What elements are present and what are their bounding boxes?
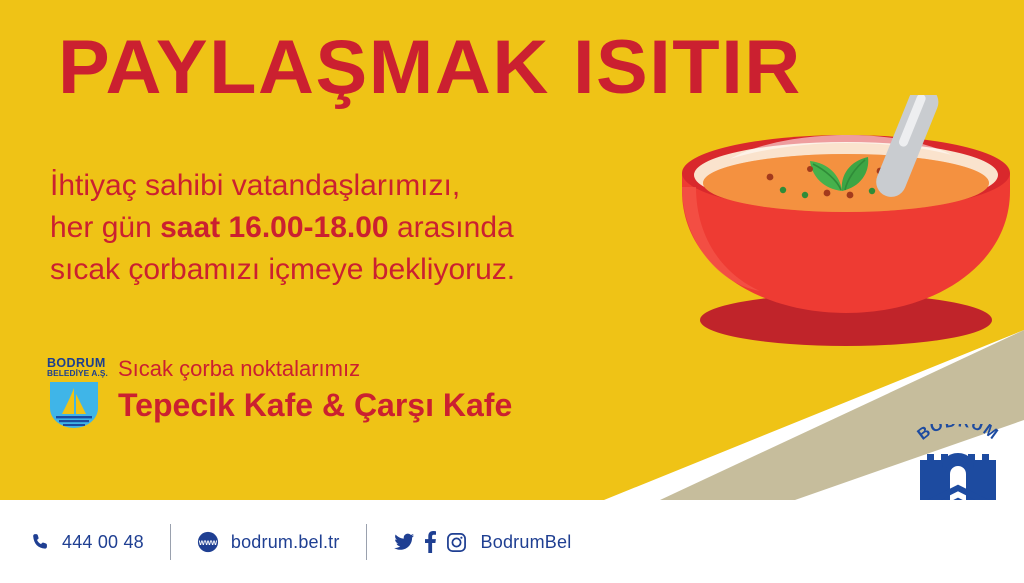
footer-phone-number: 444 00 48 bbox=[62, 532, 144, 553]
soup-points-block: BODRUM BELEDİYE A.Ş. Sıcak çorba noktala… bbox=[44, 356, 512, 428]
poster-canvas: PAYLAŞMAK ISITIR İhtiyaç sahibi vatandaş… bbox=[0, 0, 1024, 583]
footer-divider-2 bbox=[366, 524, 367, 560]
body-line-3: sıcak çorbamızı içmeye bekliyoruz. bbox=[50, 249, 515, 291]
body-copy: İhtiyaç sahibi vatandaşlarımızı, her gün… bbox=[50, 165, 515, 291]
footer-contacts: 444 00 48 www bodrum.bel.tr bbox=[30, 520, 571, 564]
mini-logo-word-belediye: BELEDİYE A.Ş. bbox=[47, 369, 108, 377]
www-globe-icon: www bbox=[197, 531, 219, 553]
footer-website-item[interactable]: www bodrum.bel.tr bbox=[197, 531, 340, 553]
footer-divider-1 bbox=[170, 524, 171, 560]
footer-social-item[interactable]: BodrumBel bbox=[393, 531, 572, 553]
body-line-2-pre: her gün bbox=[50, 211, 160, 244]
soup-points-venues: Tepecik Kafe & Çarşı Kafe bbox=[118, 389, 512, 421]
body-line-2-hours: saat 16.00-18.00 bbox=[160, 211, 389, 244]
twitter-icon[interactable] bbox=[393, 531, 415, 553]
soup-points-text: Sıcak çorba noktalarımız Tepecik Kafe & … bbox=[118, 356, 512, 421]
phone-icon bbox=[30, 532, 50, 552]
big-logo-top-text: BODRUM bbox=[915, 424, 1002, 444]
footer-social-handle: BodrumBel bbox=[481, 532, 572, 553]
footer-website-url: bodrum.bel.tr bbox=[231, 532, 340, 553]
svg-text:BODRUM: BODRUM bbox=[915, 424, 1002, 444]
footer-phone-item[interactable]: 444 00 48 bbox=[30, 532, 144, 553]
sailboat-shield-icon bbox=[48, 380, 100, 428]
facebook-icon[interactable] bbox=[424, 531, 437, 553]
instagram-icon[interactable] bbox=[446, 532, 467, 553]
body-line-2: her gün saat 16.00-18.00 arasında bbox=[50, 207, 515, 249]
body-line-2-post: arasında bbox=[389, 211, 514, 244]
bodrum-belediye-as-mini-logo: BODRUM BELEDİYE A.Ş. bbox=[44, 356, 110, 428]
castle-emblem bbox=[920, 453, 996, 504]
soup-bowl-illustration bbox=[660, 95, 1024, 350]
body-line-1: İhtiyaç sahibi vatandaşlarımızı, bbox=[50, 165, 515, 207]
soup-points-label: Sıcak çorba noktalarımız bbox=[118, 358, 512, 380]
svg-text:www: www bbox=[198, 538, 218, 547]
footer-bar: 444 00 48 www bodrum.bel.tr bbox=[0, 500, 1024, 583]
